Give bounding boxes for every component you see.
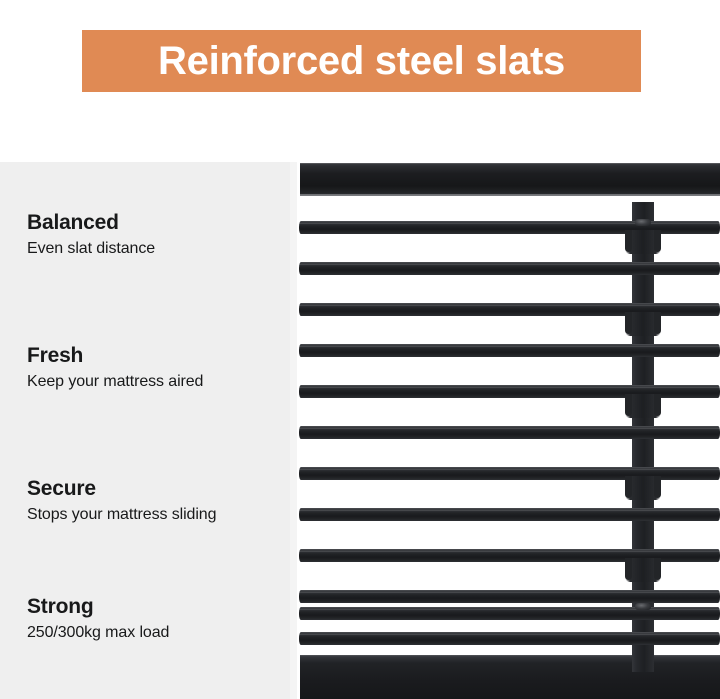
bed-frame-illustration <box>297 162 720 699</box>
bed-frame-slat <box>299 607 720 620</box>
bed-frame-slat <box>299 590 720 603</box>
slat-mounting-bracket <box>625 312 661 336</box>
title-banner: Reinforced steel slats <box>82 30 641 92</box>
feature-subtitle: Even slat distance <box>27 239 287 259</box>
bed-frame-slat <box>299 632 720 645</box>
slat-mounting-bracket <box>625 230 661 254</box>
feature-item-secure: Secure Stops your mattress sliding <box>27 476 287 525</box>
bed-frame-bottom-rail <box>300 655 720 699</box>
feature-subtitle: Keep your mattress aired <box>27 372 287 392</box>
photo-left-seam <box>290 162 297 699</box>
product-photo <box>290 162 720 699</box>
beam-bolt-head <box>635 219 651 226</box>
feature-item-balanced: Balanced Even slat distance <box>27 210 287 259</box>
feature-title: Fresh <box>27 343 287 369</box>
header-area: Reinforced steel slats <box>0 0 720 162</box>
slat-mounting-bracket <box>625 558 661 582</box>
slat-mounting-bracket <box>625 476 661 500</box>
bed-frame-slat <box>299 426 720 439</box>
bed-frame-slat <box>299 508 720 521</box>
bed-frame-top-rail <box>300 163 720 196</box>
feature-title: Strong <box>27 594 287 620</box>
product-feature-card: Reinforced steel slats Balanced Even sla… <box>0 0 720 699</box>
feature-title: Secure <box>27 476 287 502</box>
page-title: Reinforced steel slats <box>158 41 565 81</box>
feature-title: Balanced <box>27 210 287 236</box>
slat-mounting-bracket <box>625 394 661 418</box>
feature-subtitle: 250/300kg max load <box>27 623 287 643</box>
beam-bolt-head <box>635 603 651 610</box>
feature-item-strong: Strong 250/300kg max load <box>27 594 287 643</box>
bed-frame-slat <box>299 344 720 357</box>
feature-item-fresh: Fresh Keep your mattress aired <box>27 343 287 392</box>
feature-panel: Balanced Even slat distance Fresh Keep y… <box>0 162 290 699</box>
feature-list: Balanced Even slat distance Fresh Keep y… <box>0 162 290 699</box>
feature-subtitle: Stops your mattress sliding <box>27 505 287 525</box>
bed-frame-slat <box>299 262 720 275</box>
